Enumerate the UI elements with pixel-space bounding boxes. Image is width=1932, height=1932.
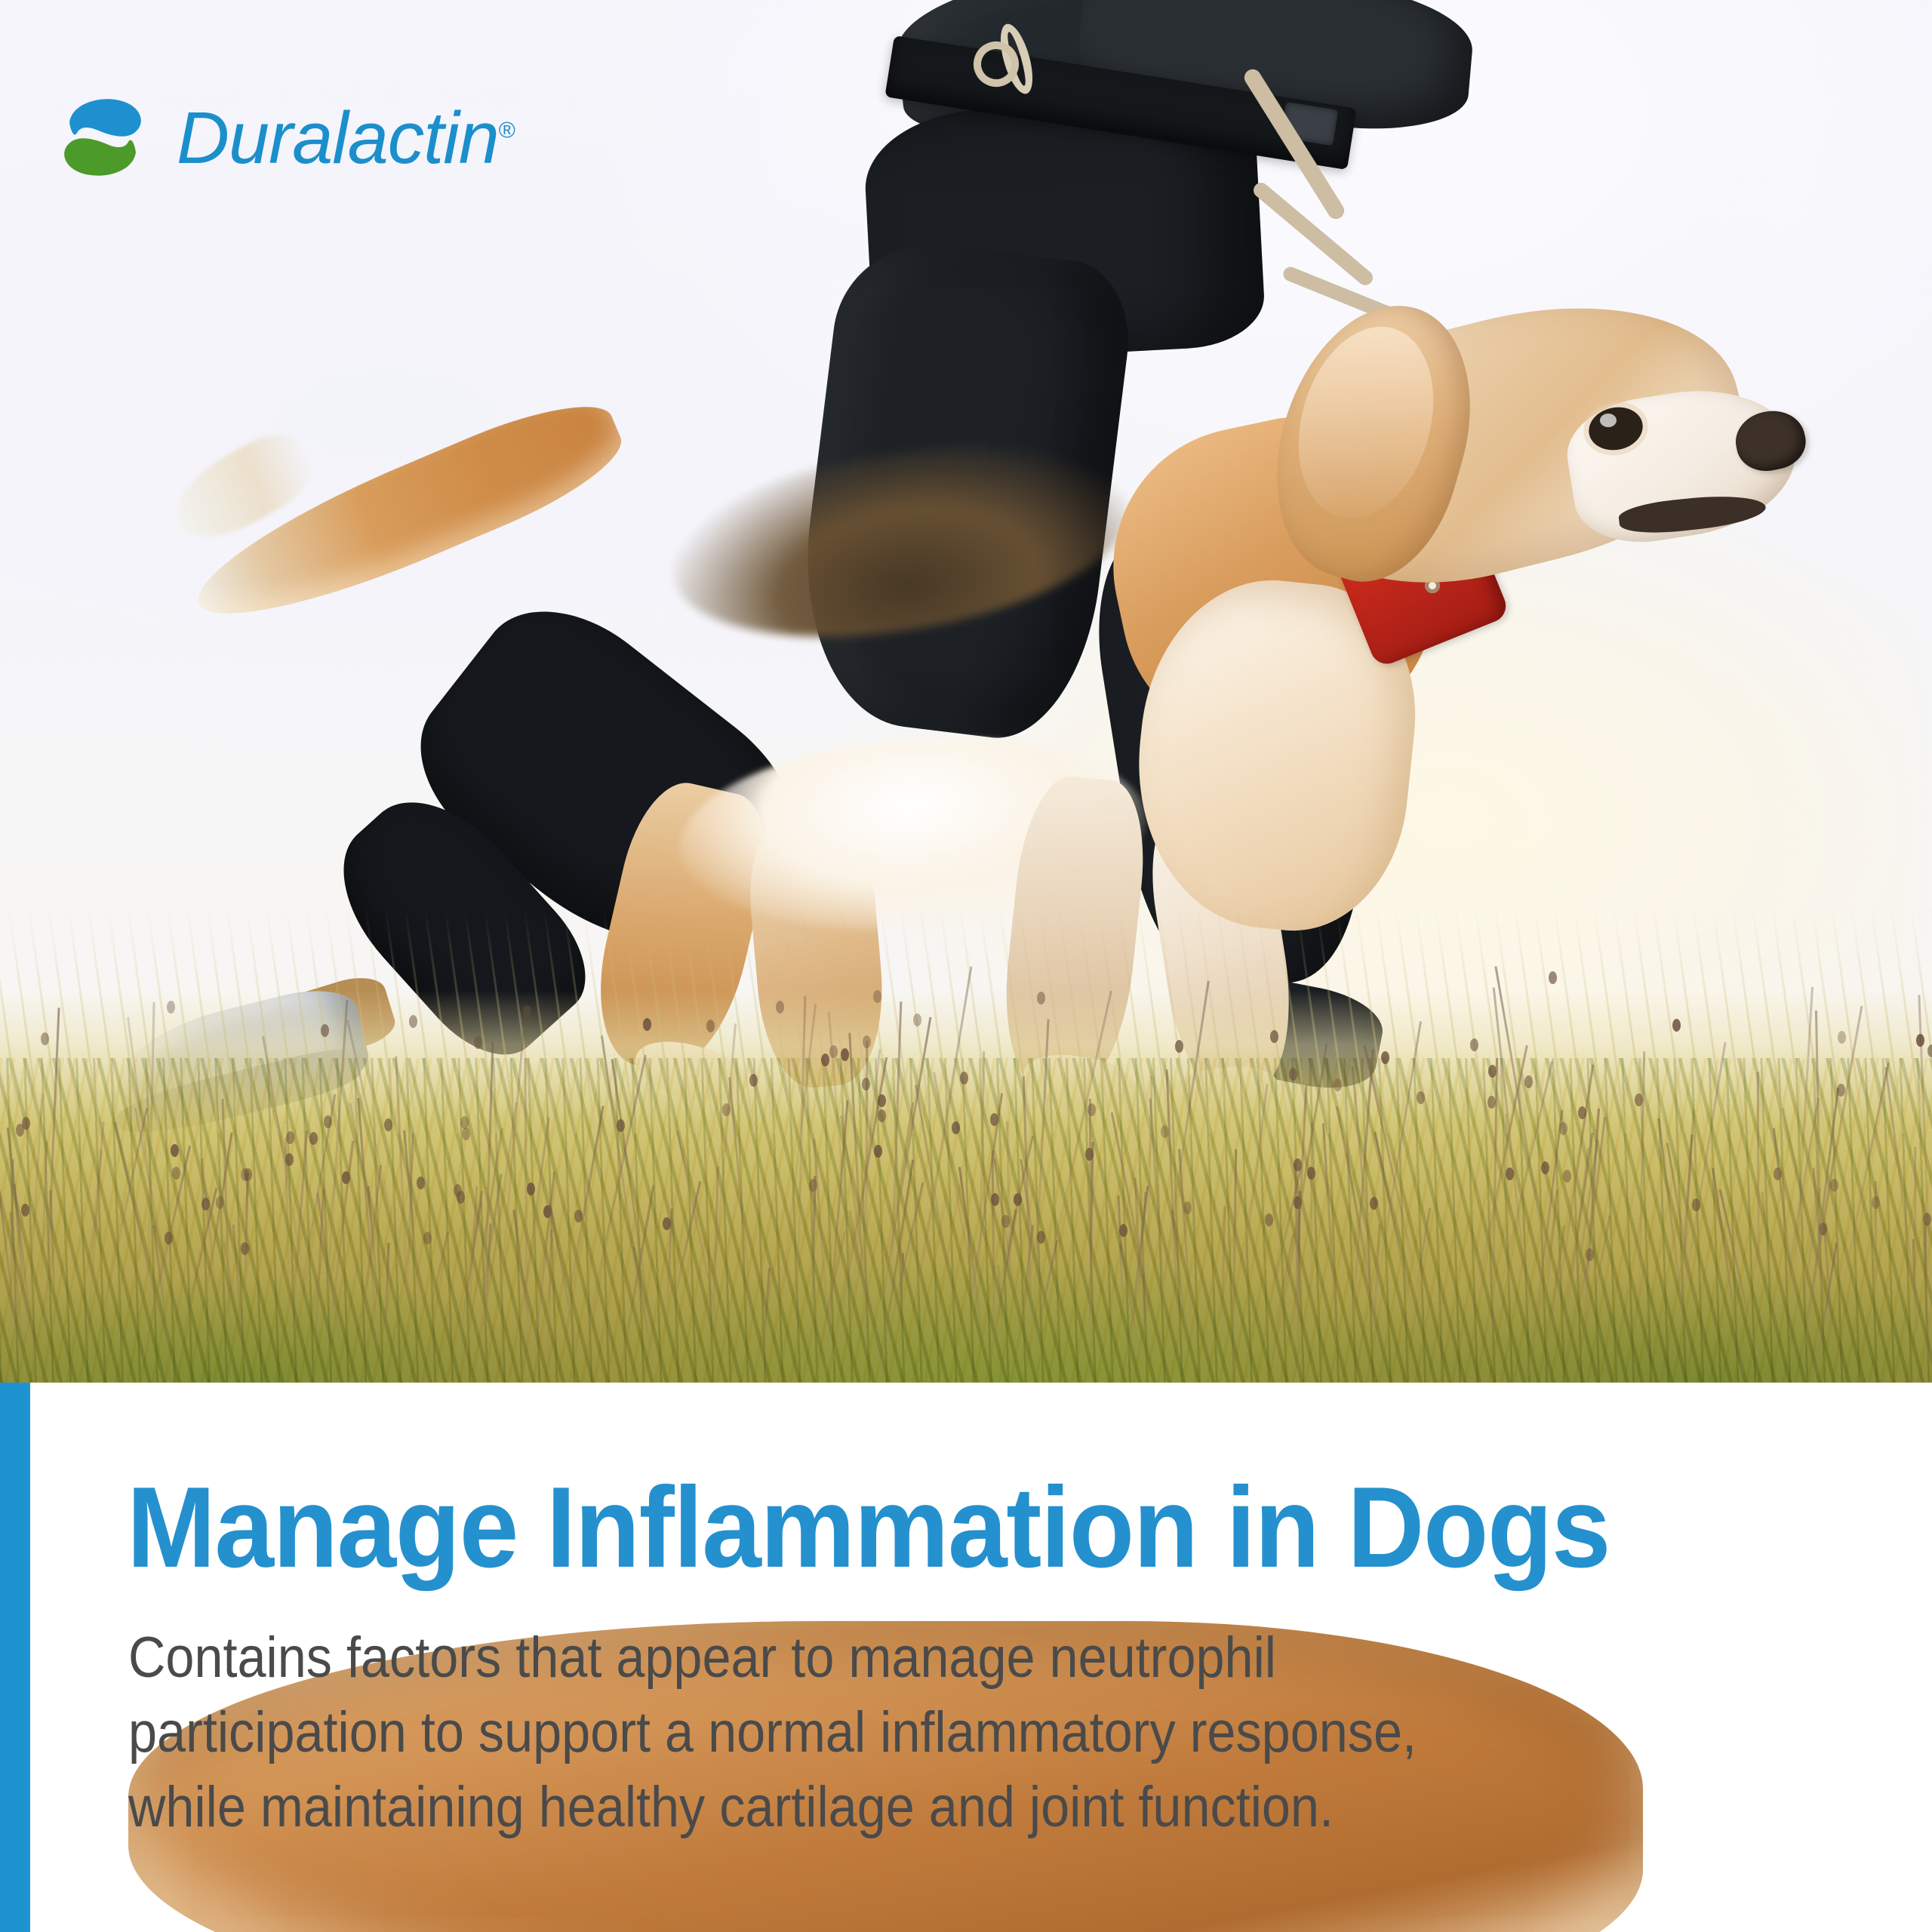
product-poster: Duralactin® Manage Inflammation in Dogs … (0, 0, 1932, 1932)
registered-mark: ® (499, 118, 515, 143)
body-copy: Contains factors that appear to manage n… (128, 1621, 1643, 1932)
hero-photo: Duralactin® (0, 0, 1932, 1383)
page-title: Manage Inflammation in Dogs (127, 1470, 1755, 1585)
body-line: Contains factors that appear to manage n… (128, 1621, 1643, 1696)
body-line: participation to support a normal inflam… (128, 1696, 1643, 1770)
dog-eye-highlight (1600, 414, 1617, 427)
brand-logo[interactable]: Duralactin® (54, 89, 515, 186)
left-accent-bar (0, 1383, 30, 1932)
body-line: while maintaining healthy cartilage and … (128, 1770, 1643, 1845)
duralactin-leaf-circle-logo-icon (54, 89, 151, 186)
brand-wordmark: Duralactin® (177, 101, 515, 174)
brand-name: Duralactin (177, 97, 499, 179)
